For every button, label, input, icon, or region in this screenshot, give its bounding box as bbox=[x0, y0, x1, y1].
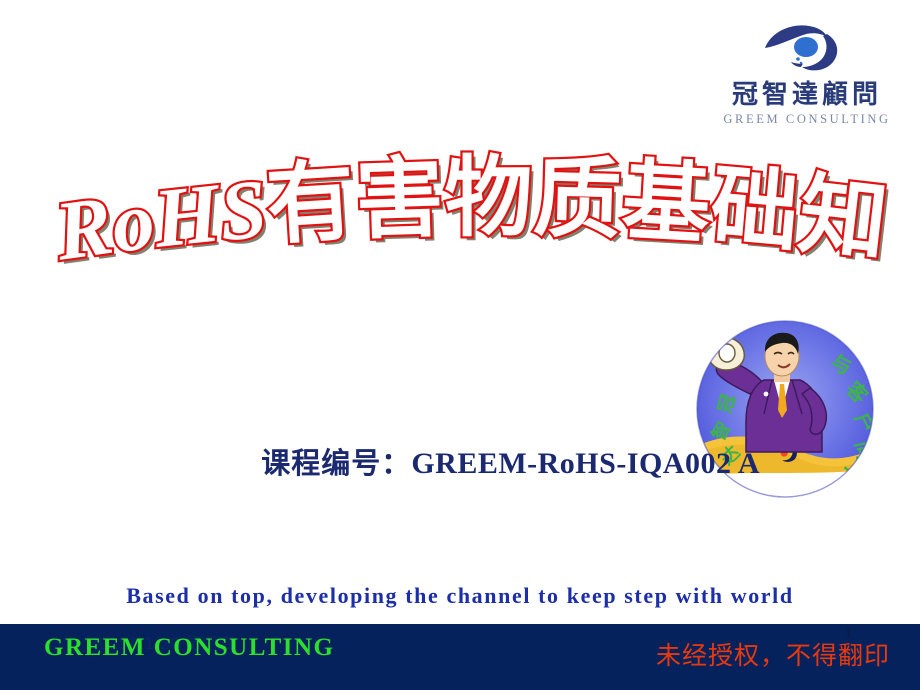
logo-company-name-en: GREEM CONSULTING bbox=[712, 112, 902, 127]
footer-copyright-notice: 未经授权，不得翻印 bbox=[656, 636, 890, 672]
page-title: RoHS有害物质基础知识培训 RoHS有害物质基础知识培训 bbox=[0, 148, 920, 298]
course-number-label: 课程编号： bbox=[261, 446, 411, 480]
corporate-logo: 冠智達顧問 GREEM CONSULTING bbox=[712, 14, 902, 136]
tagline-text: Based on top, developing the channel to … bbox=[0, 583, 920, 609]
logo-company-name-cn: 冠智達顧問 bbox=[712, 82, 902, 109]
title-main-layer: RoHS有害物质基础知识培训 bbox=[0, 148, 893, 279]
svg-text:舟: 舟 bbox=[840, 466, 865, 487]
course-number-line: 课程编号：GREEM-RoHS-IQA002 A bbox=[0, 440, 760, 482]
greem-swoosh-logo-icon bbox=[757, 14, 857, 78]
footer-bar: 2025/11/20 星期四 GREEM CONSULTING 1 未经授权，不… bbox=[0, 624, 920, 690]
footer-brand: GREEM CONSULTING bbox=[44, 634, 335, 662]
course-number-code: GREEM-RoHS-IQA002 A bbox=[411, 447, 760, 480]
svg-text:同: 同 bbox=[850, 439, 876, 464]
